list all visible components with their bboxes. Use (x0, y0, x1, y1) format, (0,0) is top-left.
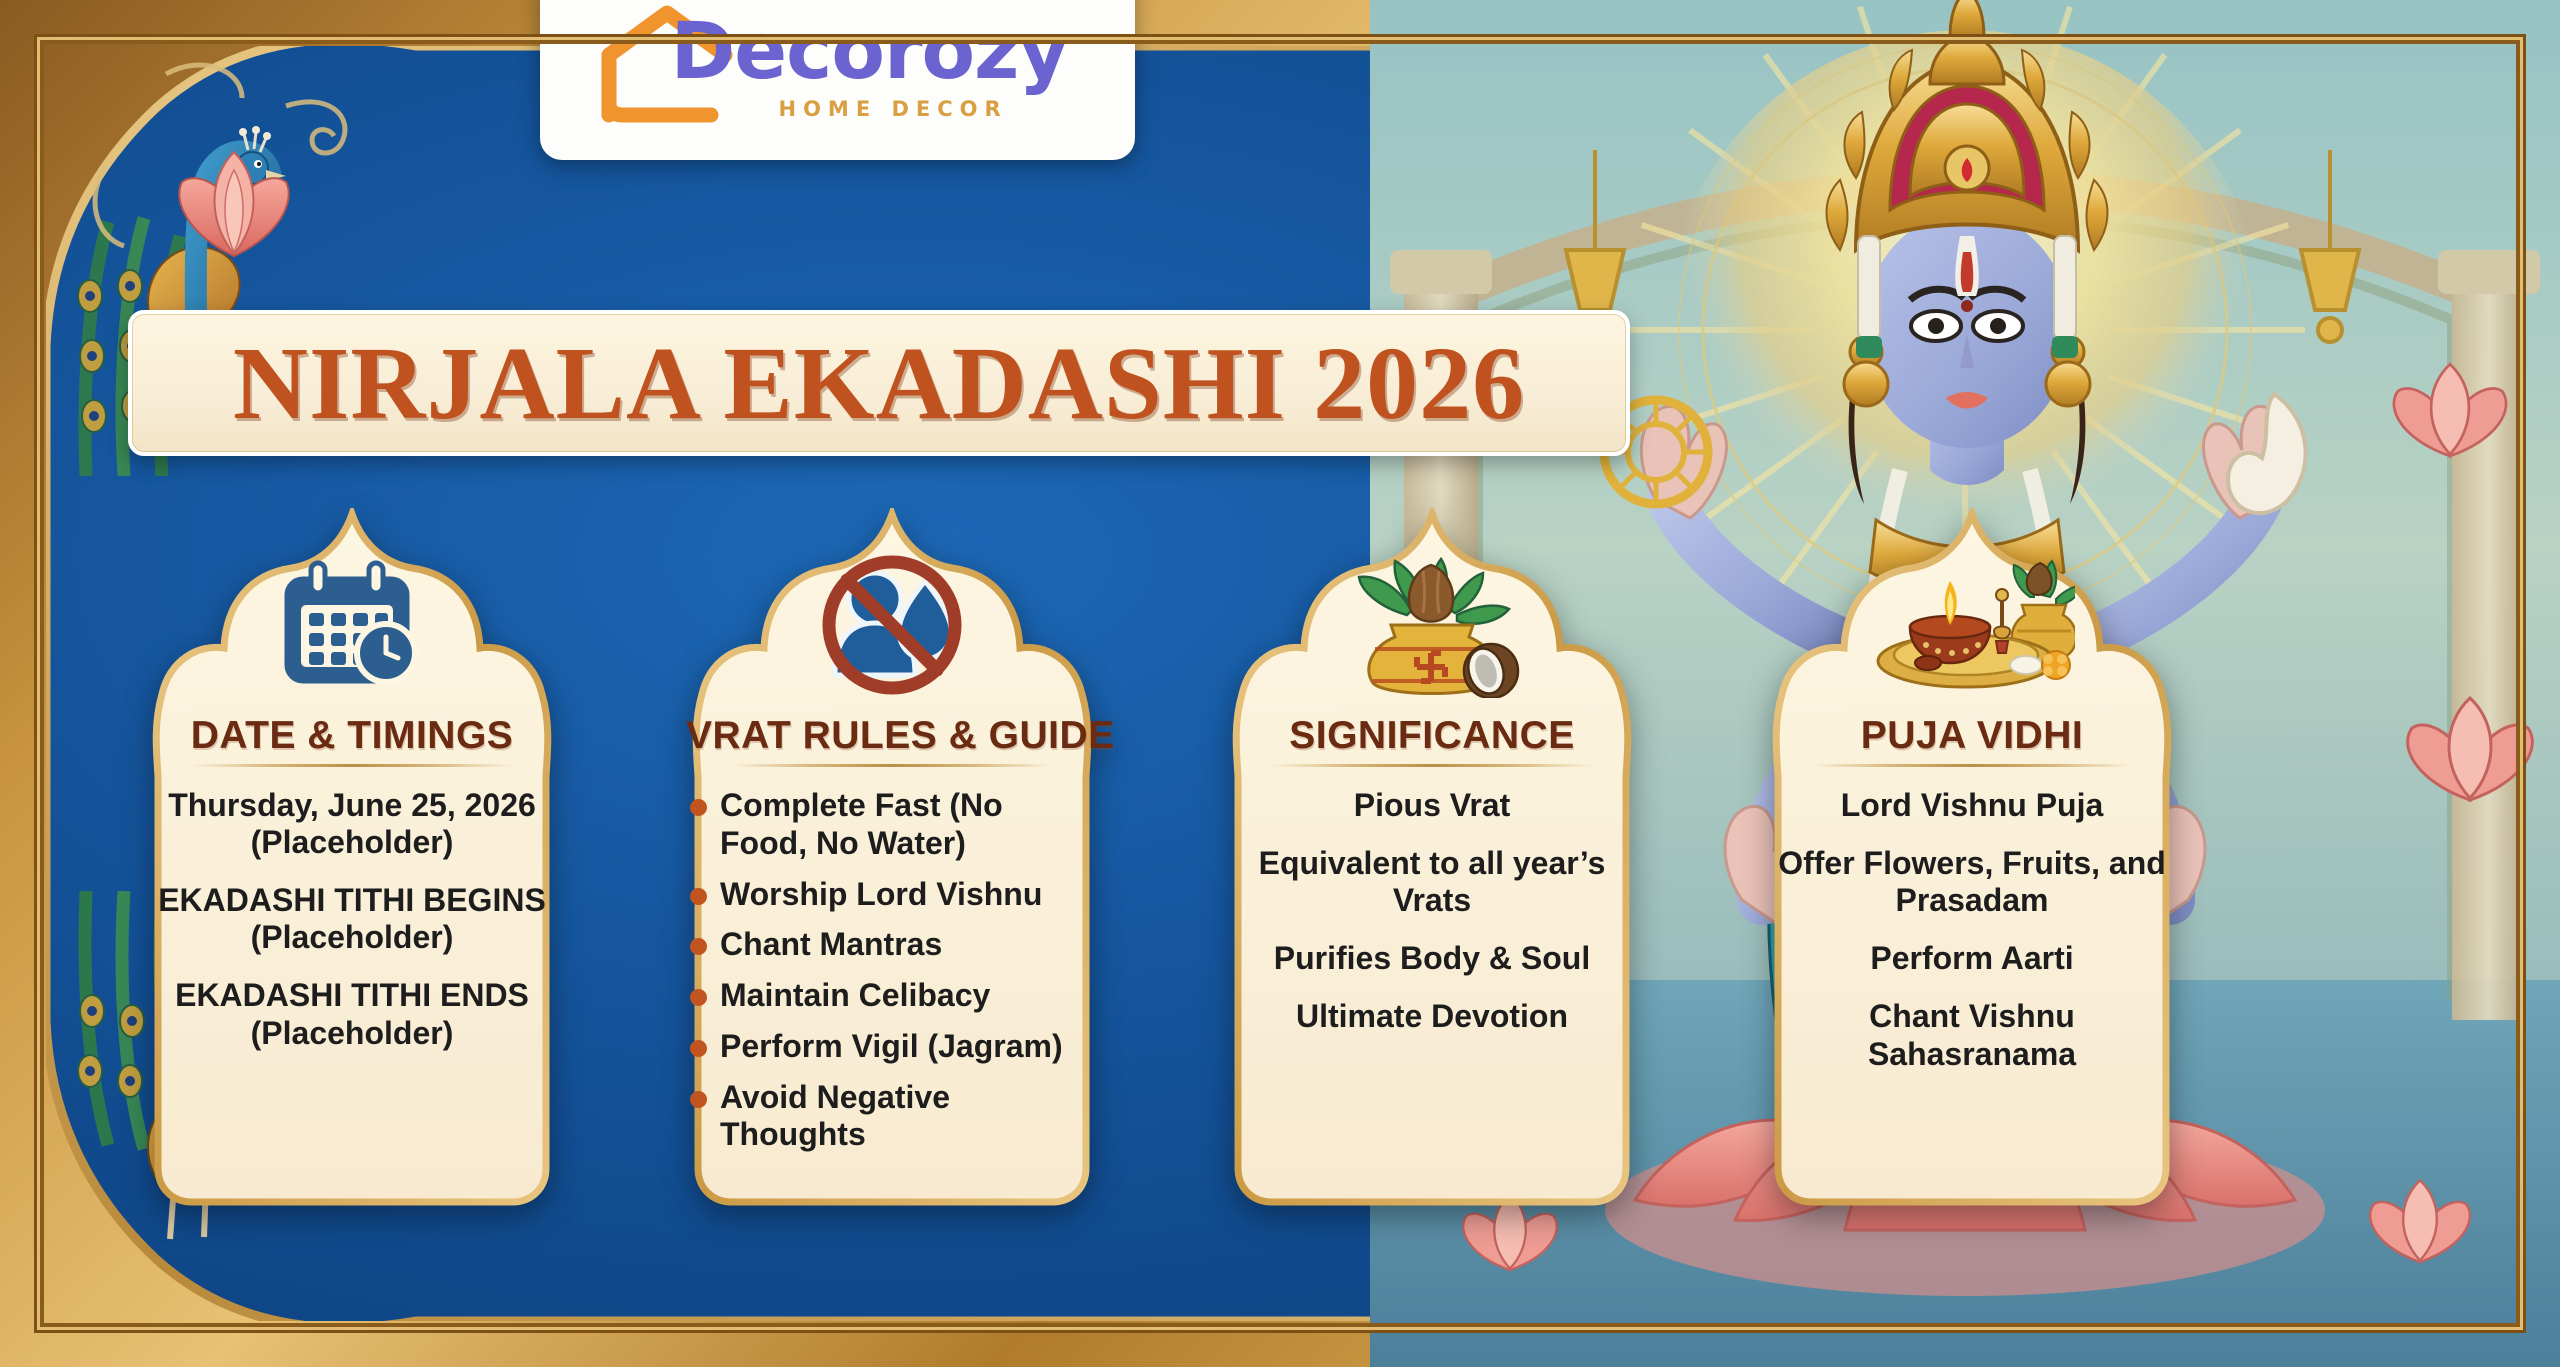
calendar-clock-icon (102, 550, 602, 700)
list-item: Maintain Celibacy (686, 977, 1098, 1015)
vrat-rules-list: Complete Fast (No Food, No Water) Worshi… (686, 787, 1098, 1154)
puja-thali-diya-icon (1722, 550, 2222, 700)
card-title: PUJA VIDHI (1766, 714, 2178, 758)
diya-lamp (1910, 581, 1990, 663)
card-title: VRAT RULES & GUIDE (686, 714, 1098, 758)
list-item: Perform Vigil (Jagram) (686, 1028, 1098, 1066)
list-item: Avoid Negative Thoughts (686, 1079, 1098, 1155)
brand-name: Decorozy (671, 7, 1069, 97)
poster-title-banner: NIRJALA EKADASHI 2026 (128, 310, 1630, 456)
card-line: Pious Vrat (1226, 787, 1638, 824)
card-line: Perform Aarti (1766, 940, 2178, 977)
list-item: Worship Lord Vishnu (686, 876, 1098, 914)
no-food-no-water-icon (642, 550, 1142, 700)
card-divider (1811, 764, 2132, 767)
kalash-coconut-icon (1182, 550, 1682, 700)
card-puja-vidhi[interactable]: PUJA VIDHI Lord Vishnu Puja Offer Flower… (1722, 508, 2222, 1107)
page-title: NIRJALA EKADASHI 2026 (233, 324, 1525, 443)
info-card-row: DATE & TIMINGS Thursday, June 25, 2026 (… (0, 498, 2560, 1298)
card-divider (731, 764, 1052, 767)
brand-tagline: HOME DECOR (779, 97, 1008, 121)
card-line: Equivalent to all year’s Vrats (1226, 845, 1638, 919)
card-date-timings[interactable]: DATE & TIMINGS Thursday, June 25, 2026 (… (102, 508, 602, 1086)
card-vrat-rules[interactable]: VRAT RULES & GUIDE Complete Fast (No Foo… (642, 508, 1142, 1201)
card-divider (1271, 764, 1592, 767)
card-title: SIGNIFICANCE (1226, 714, 1638, 758)
card-line: EKADASHI TITHI BEGINS (Placeholder) (146, 882, 558, 956)
brand-logo-card[interactable]: Decorozy HOME DECOR (540, 0, 1135, 160)
card-title: DATE & TIMINGS (146, 714, 558, 758)
card-significance[interactable]: SIGNIFICANCE Pious Vrat Equivalent to al… (1182, 508, 1682, 1070)
card-line: EKADASHI TITHI ENDS (Placeholder) (146, 977, 558, 1051)
list-item: Complete Fast (No Food, No Water) (686, 787, 1098, 863)
card-line: Thursday, June 25, 2026 (Placeholder) (146, 787, 558, 861)
card-line: Lord Vishnu Puja (1766, 787, 2178, 824)
puja-bell (1994, 589, 2010, 653)
card-line: Ultimate Devotion (1226, 998, 1638, 1035)
kumkum-bowl (1915, 656, 1941, 670)
card-line: Offer Flowers, Fruits, and Prasadam (1766, 845, 2178, 919)
card-divider (191, 764, 512, 767)
list-item: Chant Mantras (686, 926, 1098, 964)
card-line: Purifies Body & Soul (1226, 940, 1638, 977)
card-line: Chant Vishnu Sahasranama (1766, 998, 2178, 1072)
halved-coconut (1462, 643, 1517, 697)
rice-offering (2010, 656, 2042, 674)
infographic-poster: Decorozy HOME DECOR NIRJALA EKADASHI 202… (0, 0, 2560, 1367)
